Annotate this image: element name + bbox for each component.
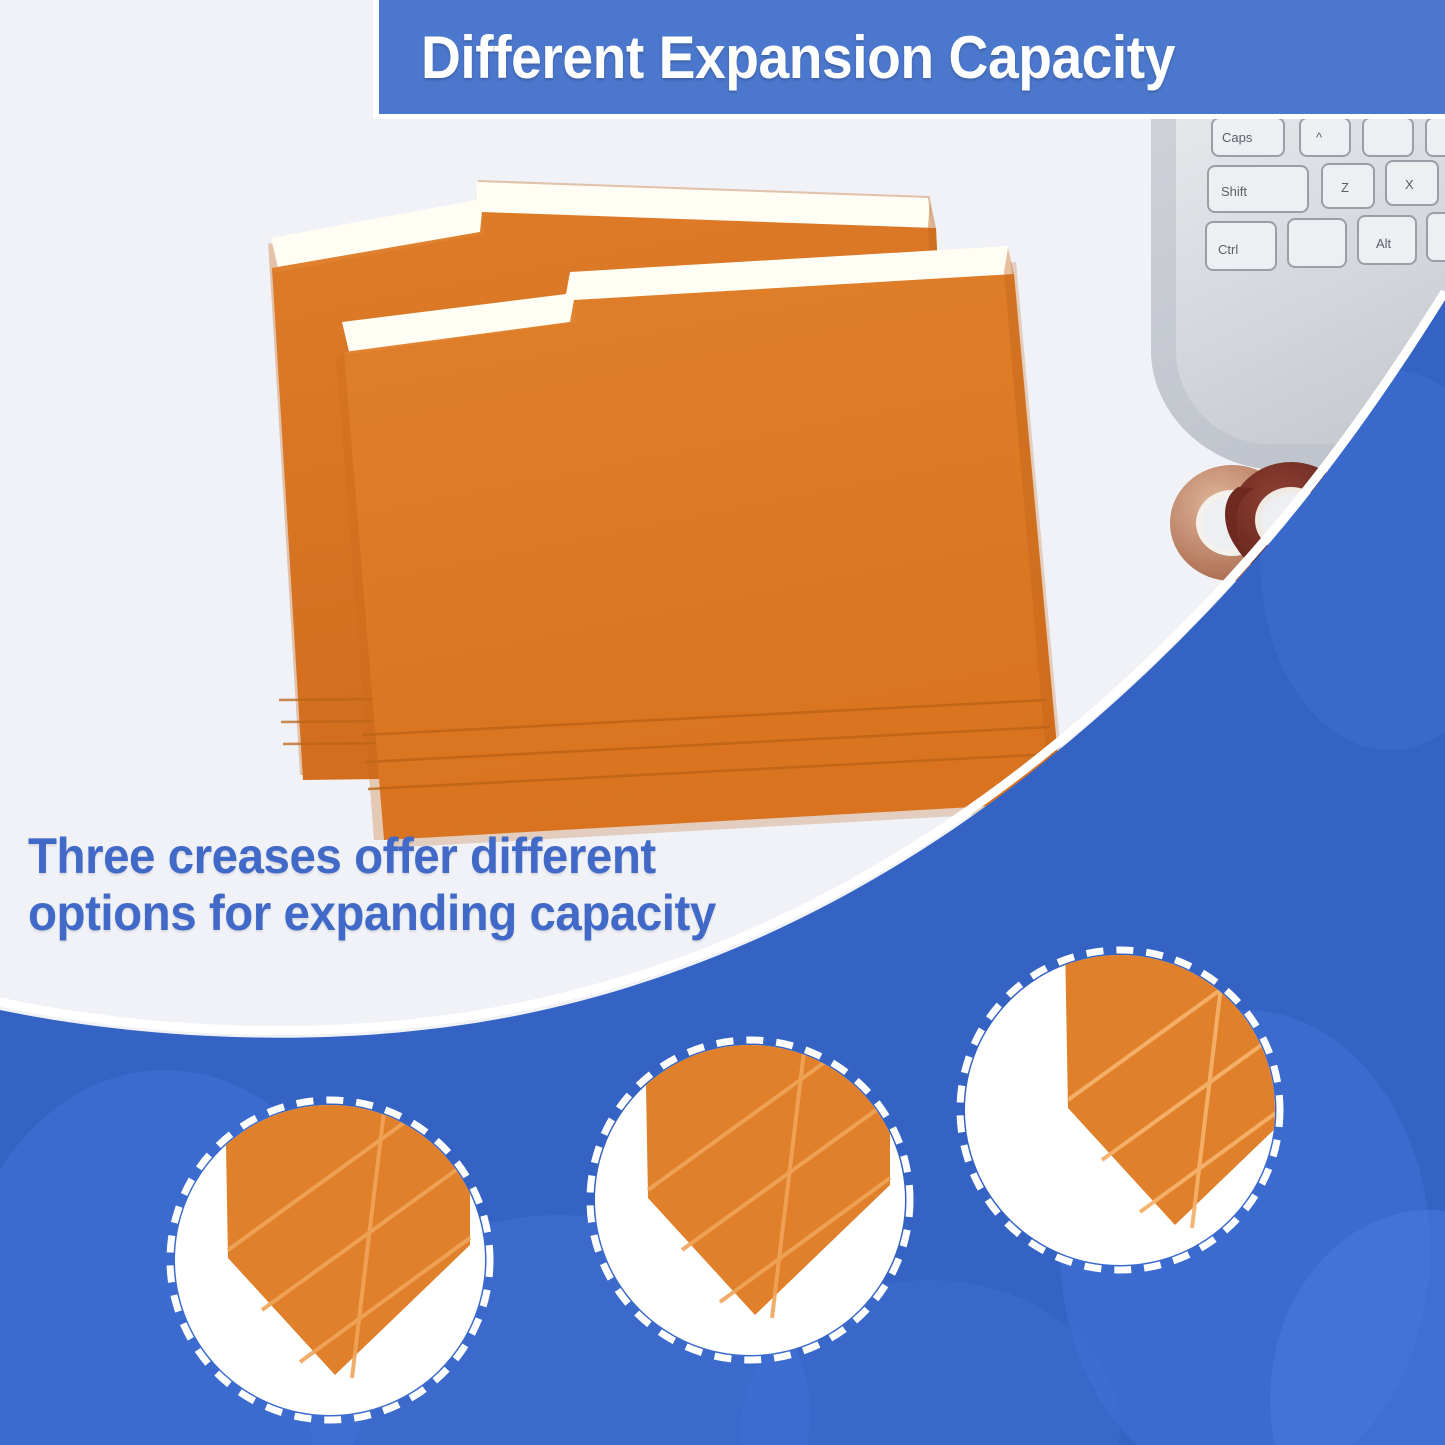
key-label-caps: Caps — [1222, 130, 1253, 145]
page-title: Different Expansion Capacity — [421, 23, 1175, 92]
key-label-ctrl: Ctrl — [1218, 242, 1238, 257]
infographic-canvas: Caps ^ Shift Z X C Ctrl Alt — [0, 0, 1445, 1445]
scene-artwork: Caps ^ Shift Z X C Ctrl Alt — [0, 0, 1445, 1445]
key-label-caret: ^ — [1316, 130, 1323, 145]
key-label-alt: Alt — [1376, 236, 1392, 251]
key-label-shift: Shift — [1221, 184, 1247, 199]
folder-front — [336, 246, 1066, 848]
key-label-z: Z — [1341, 180, 1349, 195]
caption-line-2: options for expanding capacity — [28, 885, 716, 942]
header-banner: Different Expansion Capacity — [373, 0, 1445, 119]
feature-caption: Three creases offer different options fo… — [28, 828, 716, 942]
caption-line-1: Three creases offer different — [28, 828, 716, 885]
key-label-x: X — [1405, 177, 1414, 192]
